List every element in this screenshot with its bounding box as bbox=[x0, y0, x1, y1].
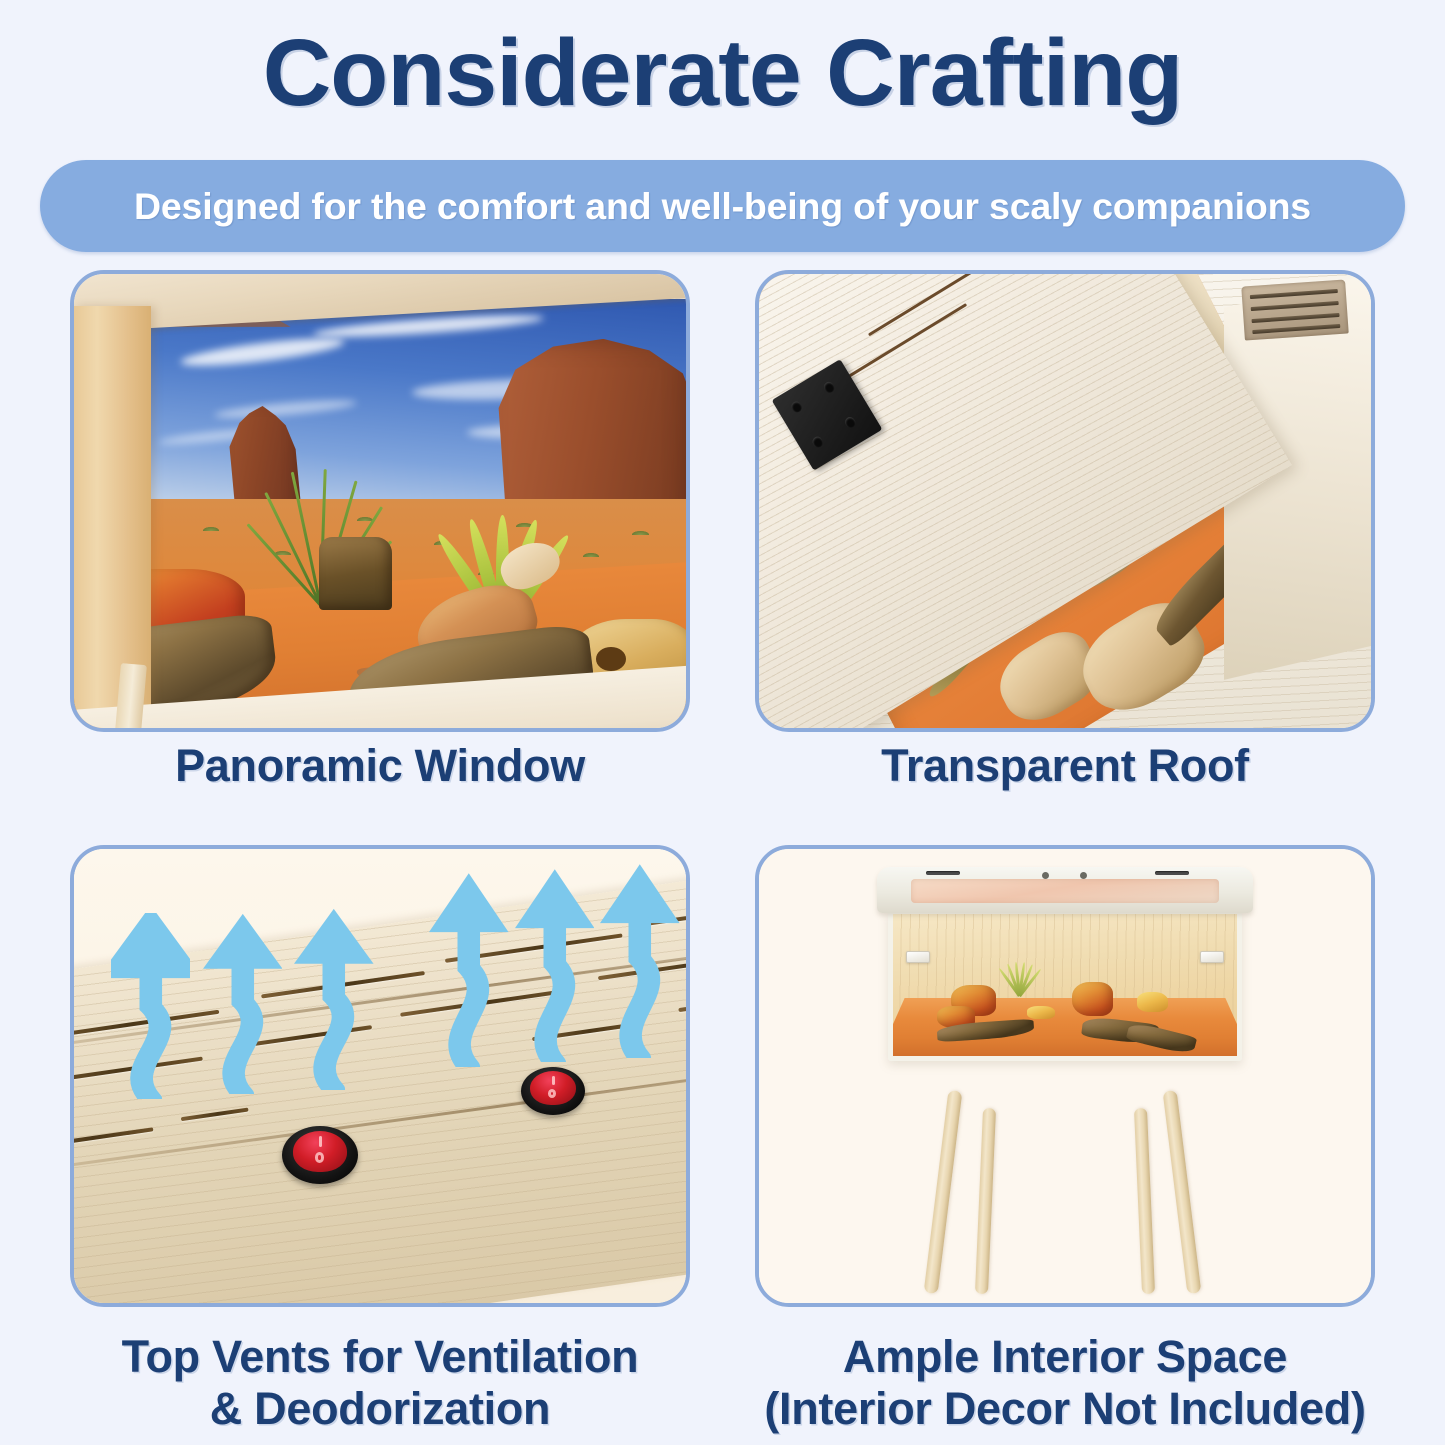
transparent-lid[interactable] bbox=[877, 867, 1253, 913]
vent-grille-icon bbox=[1241, 280, 1349, 342]
airflow-arrow-icon bbox=[600, 858, 680, 1058]
switch-rocker[interactable] bbox=[293, 1131, 348, 1173]
caption-line: Panoramic Window bbox=[70, 740, 690, 792]
ventilation-scene bbox=[74, 849, 686, 1303]
top-vents-photo bbox=[70, 845, 690, 1307]
vent-louver bbox=[1250, 289, 1337, 299]
caption-top-vents: Top Vents for Ventilation & Deodorizatio… bbox=[70, 1331, 690, 1435]
skull-eye bbox=[596, 647, 626, 671]
caption-transparent-roof: Transparent Roof bbox=[755, 740, 1375, 792]
page-title: Considerate Crafting bbox=[0, 24, 1445, 124]
hinge-screw bbox=[843, 415, 857, 429]
open-roof-scene bbox=[759, 274, 1371, 728]
airflow-arrow-icon bbox=[111, 913, 191, 1099]
feature-card-top-vents: Top Vents for Ventilation & Deodorizatio… bbox=[70, 845, 690, 1307]
lid-vent-slot bbox=[926, 871, 960, 875]
lid-screw bbox=[1080, 872, 1087, 879]
caption-line: (Interior Decor Not Included) bbox=[755, 1383, 1375, 1435]
cabinet-body bbox=[888, 909, 1243, 1062]
airflow-arrow-icon bbox=[429, 867, 509, 1067]
subtitle-text: Designed for the comfort and well-being … bbox=[134, 185, 1311, 228]
plant-decor bbox=[999, 962, 1037, 996]
hinge-screw bbox=[810, 435, 824, 449]
switch-off-mark bbox=[548, 1089, 556, 1098]
product-photo bbox=[755, 845, 1375, 1307]
caption-line: Ample Interior Space bbox=[755, 1331, 1375, 1383]
lid-vent-slot bbox=[1155, 871, 1189, 875]
fern-blade bbox=[291, 472, 322, 606]
header: Considerate Crafting Designed for the co… bbox=[0, 0, 1445, 260]
caption-line: Top Vents for Ventilation bbox=[70, 1331, 690, 1383]
switch-on-mark bbox=[552, 1076, 555, 1085]
caption-line: & Deodorization bbox=[70, 1383, 690, 1435]
vent-louver bbox=[1251, 313, 1338, 323]
side-vent-right-icon bbox=[1200, 951, 1224, 964]
lid-screw bbox=[1042, 872, 1049, 879]
interior-wood-wall bbox=[893, 914, 1238, 1057]
subtitle-pill: Designed for the comfort and well-being … bbox=[40, 160, 1405, 252]
power-rocker-switch[interactable] bbox=[521, 1067, 585, 1115]
product-shot-scene bbox=[759, 849, 1371, 1303]
lid-glass-panel bbox=[911, 879, 1220, 903]
rock-decor bbox=[1027, 1006, 1055, 1019]
feature-card-transparent-roof: Transparent Roof bbox=[755, 270, 1375, 732]
desert-terrarium-scene bbox=[74, 274, 686, 728]
rock-decor bbox=[1072, 982, 1113, 1016]
cloud-icon bbox=[180, 333, 346, 371]
vent-louver bbox=[1252, 324, 1339, 334]
airflow-arrow-icon bbox=[203, 908, 283, 1094]
hinge-screw bbox=[789, 400, 803, 414]
cloud-icon bbox=[213, 397, 357, 421]
hinge-screw bbox=[822, 380, 836, 394]
transparent-roof-photo bbox=[755, 270, 1375, 732]
switch-off-mark bbox=[315, 1152, 325, 1163]
grass-tuft bbox=[632, 531, 649, 536]
airflow-arrow-icon bbox=[294, 903, 374, 1089]
switch-on-mark bbox=[319, 1136, 322, 1147]
caption-interior-space: Ample Interior Space (Interior Decor Not… bbox=[755, 1331, 1375, 1435]
panoramic-window-photo bbox=[70, 270, 690, 732]
caption-line: Transparent Roof bbox=[755, 740, 1375, 792]
caption-panoramic-window: Panoramic Window bbox=[70, 740, 690, 792]
airflow-arrow-icon bbox=[515, 863, 595, 1063]
rock-decor bbox=[1137, 992, 1168, 1012]
power-rocker-switch[interactable] bbox=[282, 1126, 358, 1184]
side-vent-left-icon bbox=[906, 951, 930, 964]
vent-louver bbox=[1250, 301, 1337, 311]
switch-rocker[interactable] bbox=[530, 1071, 576, 1106]
feature-card-panoramic-window: Panoramic Window bbox=[70, 270, 690, 732]
feature-card-interior-space: Ample Interior Space (Interior Decor Not… bbox=[755, 845, 1375, 1307]
grass-tuft bbox=[203, 527, 220, 532]
terrarium-cabinet bbox=[888, 867, 1243, 1085]
